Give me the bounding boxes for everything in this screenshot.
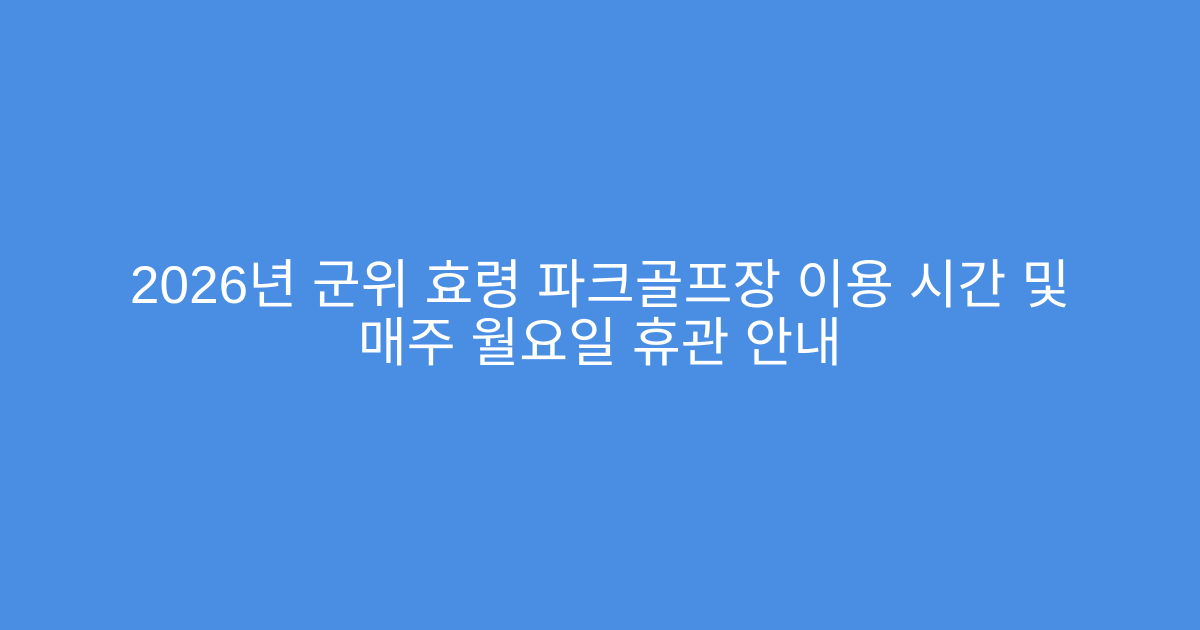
title-block: 2026년 군위 효령 파크골프장 이용 시간 및 매주 월요일 휴관 안내 — [80, 257, 1120, 373]
og-share-card: 2026년 군위 효령 파크골프장 이용 시간 및 매주 월요일 휴관 안내 — [0, 0, 1200, 630]
page-title: 2026년 군위 효령 파크골프장 이용 시간 및 매주 월요일 휴관 안내 — [80, 257, 1120, 373]
